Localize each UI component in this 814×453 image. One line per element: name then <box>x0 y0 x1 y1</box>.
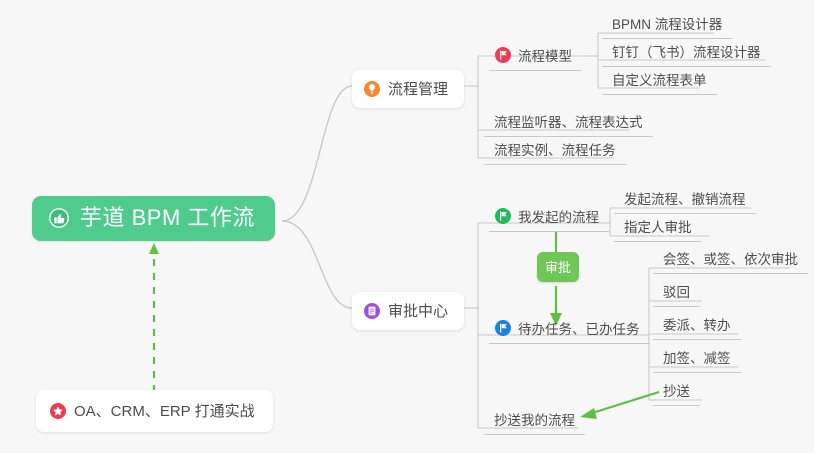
node-label: 钉钉（飞书）流程设计器 <box>612 41 761 61</box>
node-label: 抄送我的流程 <box>494 409 575 429</box>
flag-blue-icon <box>495 320 511 336</box>
node-label: 流程模型 <box>518 45 572 65</box>
node-todo-done-tasks[interactable]: 待办任务、已办任务 <box>489 315 650 343</box>
node-label: 我发起的流程 <box>518 206 599 226</box>
document-icon <box>364 303 380 319</box>
node-label: 流程实例、流程任务 <box>494 139 616 159</box>
approval-badge: 审批 <box>537 252 579 282</box>
bottom-note-label: OA、CRM、ERP 打通实战 <box>74 400 255 421</box>
node-countersign[interactable]: 会签、或签、依次审批 <box>653 245 808 273</box>
node-process-listener[interactable]: 流程监听器、流程表达式 <box>484 108 653 136</box>
node-my-started-process[interactable]: 我发起的流程 <box>489 203 609 231</box>
approval-badge-label: 审批 <box>545 260 571 275</box>
node-process-instance[interactable]: 流程实例、流程任务 <box>484 136 626 164</box>
node-label: 发起流程、撤销流程 <box>624 188 746 208</box>
node-cc[interactable]: 抄送 <box>653 377 700 405</box>
lightbulb-icon <box>364 81 380 97</box>
node-label: 抄送 <box>663 380 690 400</box>
node-label: 流程监听器、流程表达式 <box>494 111 643 131</box>
node-assigned-approval[interactable]: 指定人审批 <box>614 213 702 241</box>
node-label: 待办任务、已办任务 <box>518 318 640 338</box>
node-label: 驳回 <box>663 281 690 301</box>
bottom-note[interactable]: OA、CRM、ERP 打通实战 <box>36 390 273 432</box>
node-delegate-transfer[interactable]: 委派、转办 <box>653 311 741 339</box>
star-icon <box>50 403 66 419</box>
node-custom-form[interactable]: 自定义流程表单 <box>602 66 717 94</box>
branch-label: 流程管理 <box>388 78 448 99</box>
root-label: 芋道 BPM 工作流 <box>80 207 255 229</box>
flag-red-icon <box>495 47 511 63</box>
branch-approval-center[interactable]: 审批中心 <box>352 292 464 330</box>
branch-process-management[interactable]: 流程管理 <box>352 70 464 108</box>
node-dingtalk-designer[interactable]: 钉钉（飞书）流程设计器 <box>602 38 771 66</box>
node-label: 自定义流程表单 <box>612 69 707 89</box>
node-label: 指定人审批 <box>624 216 692 236</box>
node-label: 会签、或签、依次审批 <box>663 248 798 268</box>
node-label: BPMN 流程设计器 <box>612 13 722 33</box>
node-start-cancel-process[interactable]: 发起流程、撤销流程 <box>614 185 756 213</box>
node-cc-to-me[interactable]: 抄送我的流程 <box>484 406 585 434</box>
root-node[interactable]: 芋道 BPM 工作流 <box>32 196 275 241</box>
node-label: 委派、转办 <box>663 314 731 334</box>
node-add-remove-sign[interactable]: 加签、减签 <box>653 344 741 372</box>
thumbs-up-icon <box>48 207 70 229</box>
node-process-model[interactable]: 流程模型 <box>489 42 582 70</box>
branch-label: 审批中心 <box>388 300 448 321</box>
mindmap-canvas: 芋道 BPM 工作流 流程管理 流程模型 BPMN 流程设计器 钉钉（飞书）流程 <box>0 0 814 453</box>
flag-green-icon <box>495 208 511 224</box>
node-reject[interactable]: 驳回 <box>653 278 700 306</box>
node-bpmn-designer[interactable]: BPMN 流程设计器 <box>602 10 732 38</box>
node-label: 加签、减签 <box>663 347 731 367</box>
